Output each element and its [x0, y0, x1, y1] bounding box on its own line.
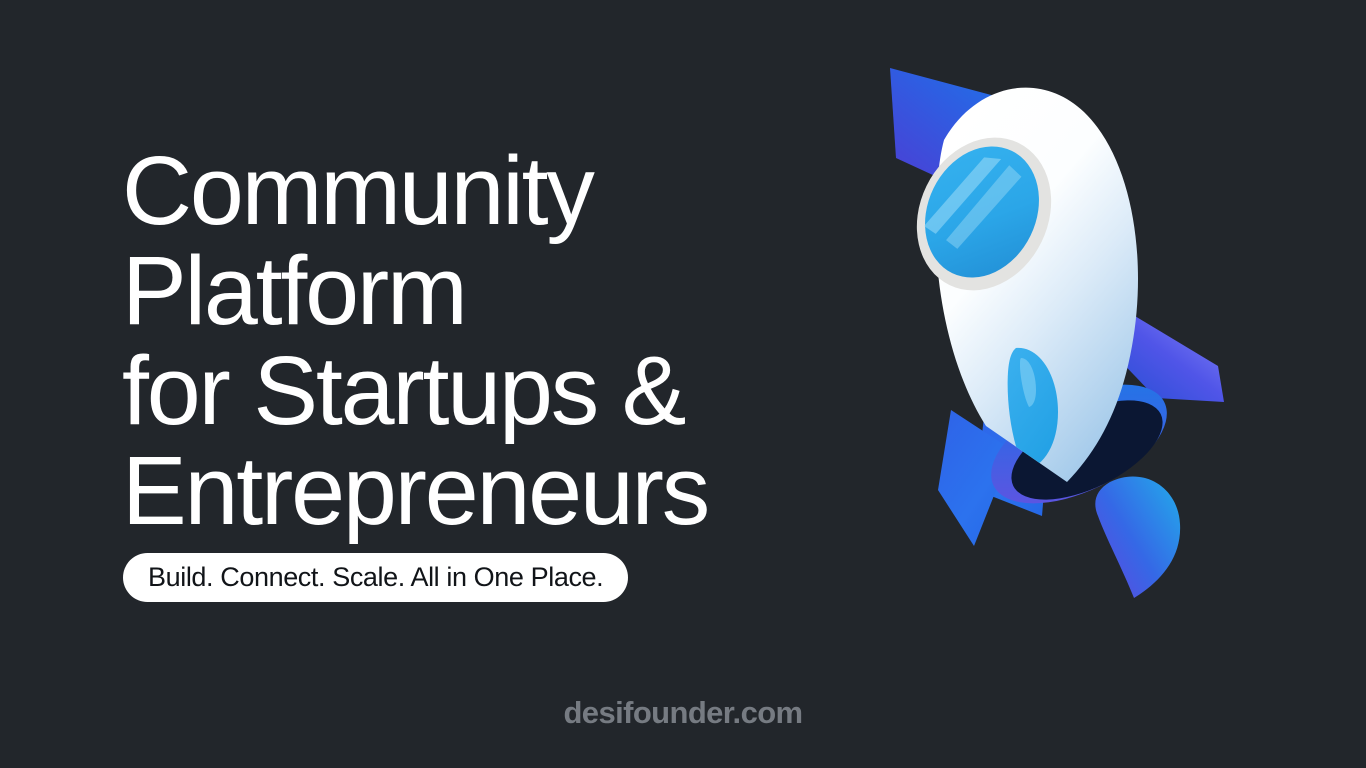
headline-line-3: for Startups &: [122, 341, 822, 441]
headline-line-4: Entrepreneurs: [122, 441, 822, 541]
site-watermark: desifounder.com: [0, 694, 1366, 732]
rocket-illustration: [826, 46, 1256, 636]
tagline-text: Build. Connect. Scale. All in One Place.: [148, 564, 603, 591]
headline-line-1: Community: [122, 141, 822, 241]
tagline-badge: Build. Connect. Scale. All in One Place.: [123, 553, 628, 602]
headline-line-2: Platform: [122, 241, 822, 341]
rocket-flame: [1095, 476, 1180, 598]
poster-canvas: Community Platform for Startups & Entrep…: [0, 0, 1366, 768]
page-title: Community Platform for Startups & Entrep…: [122, 141, 822, 541]
